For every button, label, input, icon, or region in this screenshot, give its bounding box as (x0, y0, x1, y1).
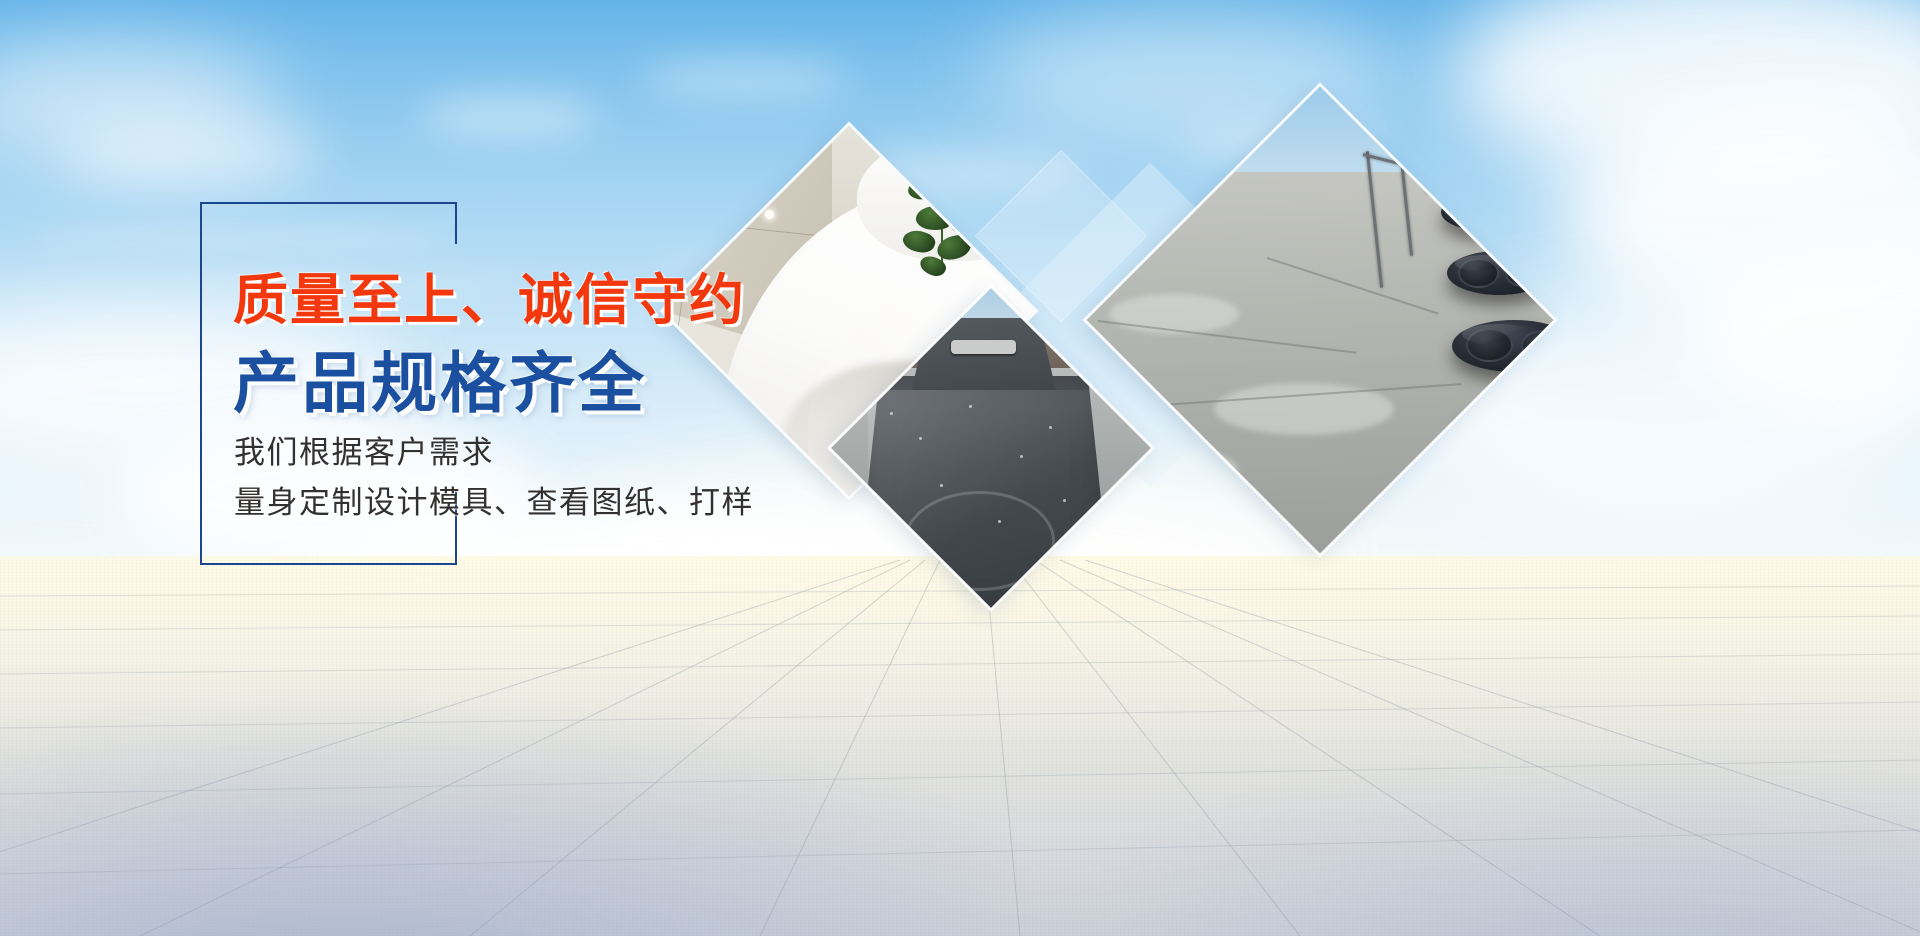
subtitle-line-2: 量身定制设计模具、查看图纸、打样 (234, 477, 754, 522)
promo-banner: 质量至上、诚信守约 产品规格齐全 我们根据客户需求 量身定制设计模具、查看图纸、… (0, 0, 1920, 936)
ground-shadow-right (960, 736, 1920, 936)
bracket-left (200, 202, 202, 565)
bracket-right-stub (455, 202, 457, 244)
headline-red: 质量至上、诚信守约 (233, 255, 746, 335)
cloud-streak (30, 230, 450, 246)
plaza-ground (0, 556, 1920, 936)
bracket-top (200, 202, 457, 204)
bracket-bottom (200, 563, 457, 565)
headline-blue: 产品规格齐全 (233, 330, 647, 426)
subtitle-line-1: 我们根据客户需求 (234, 427, 494, 472)
